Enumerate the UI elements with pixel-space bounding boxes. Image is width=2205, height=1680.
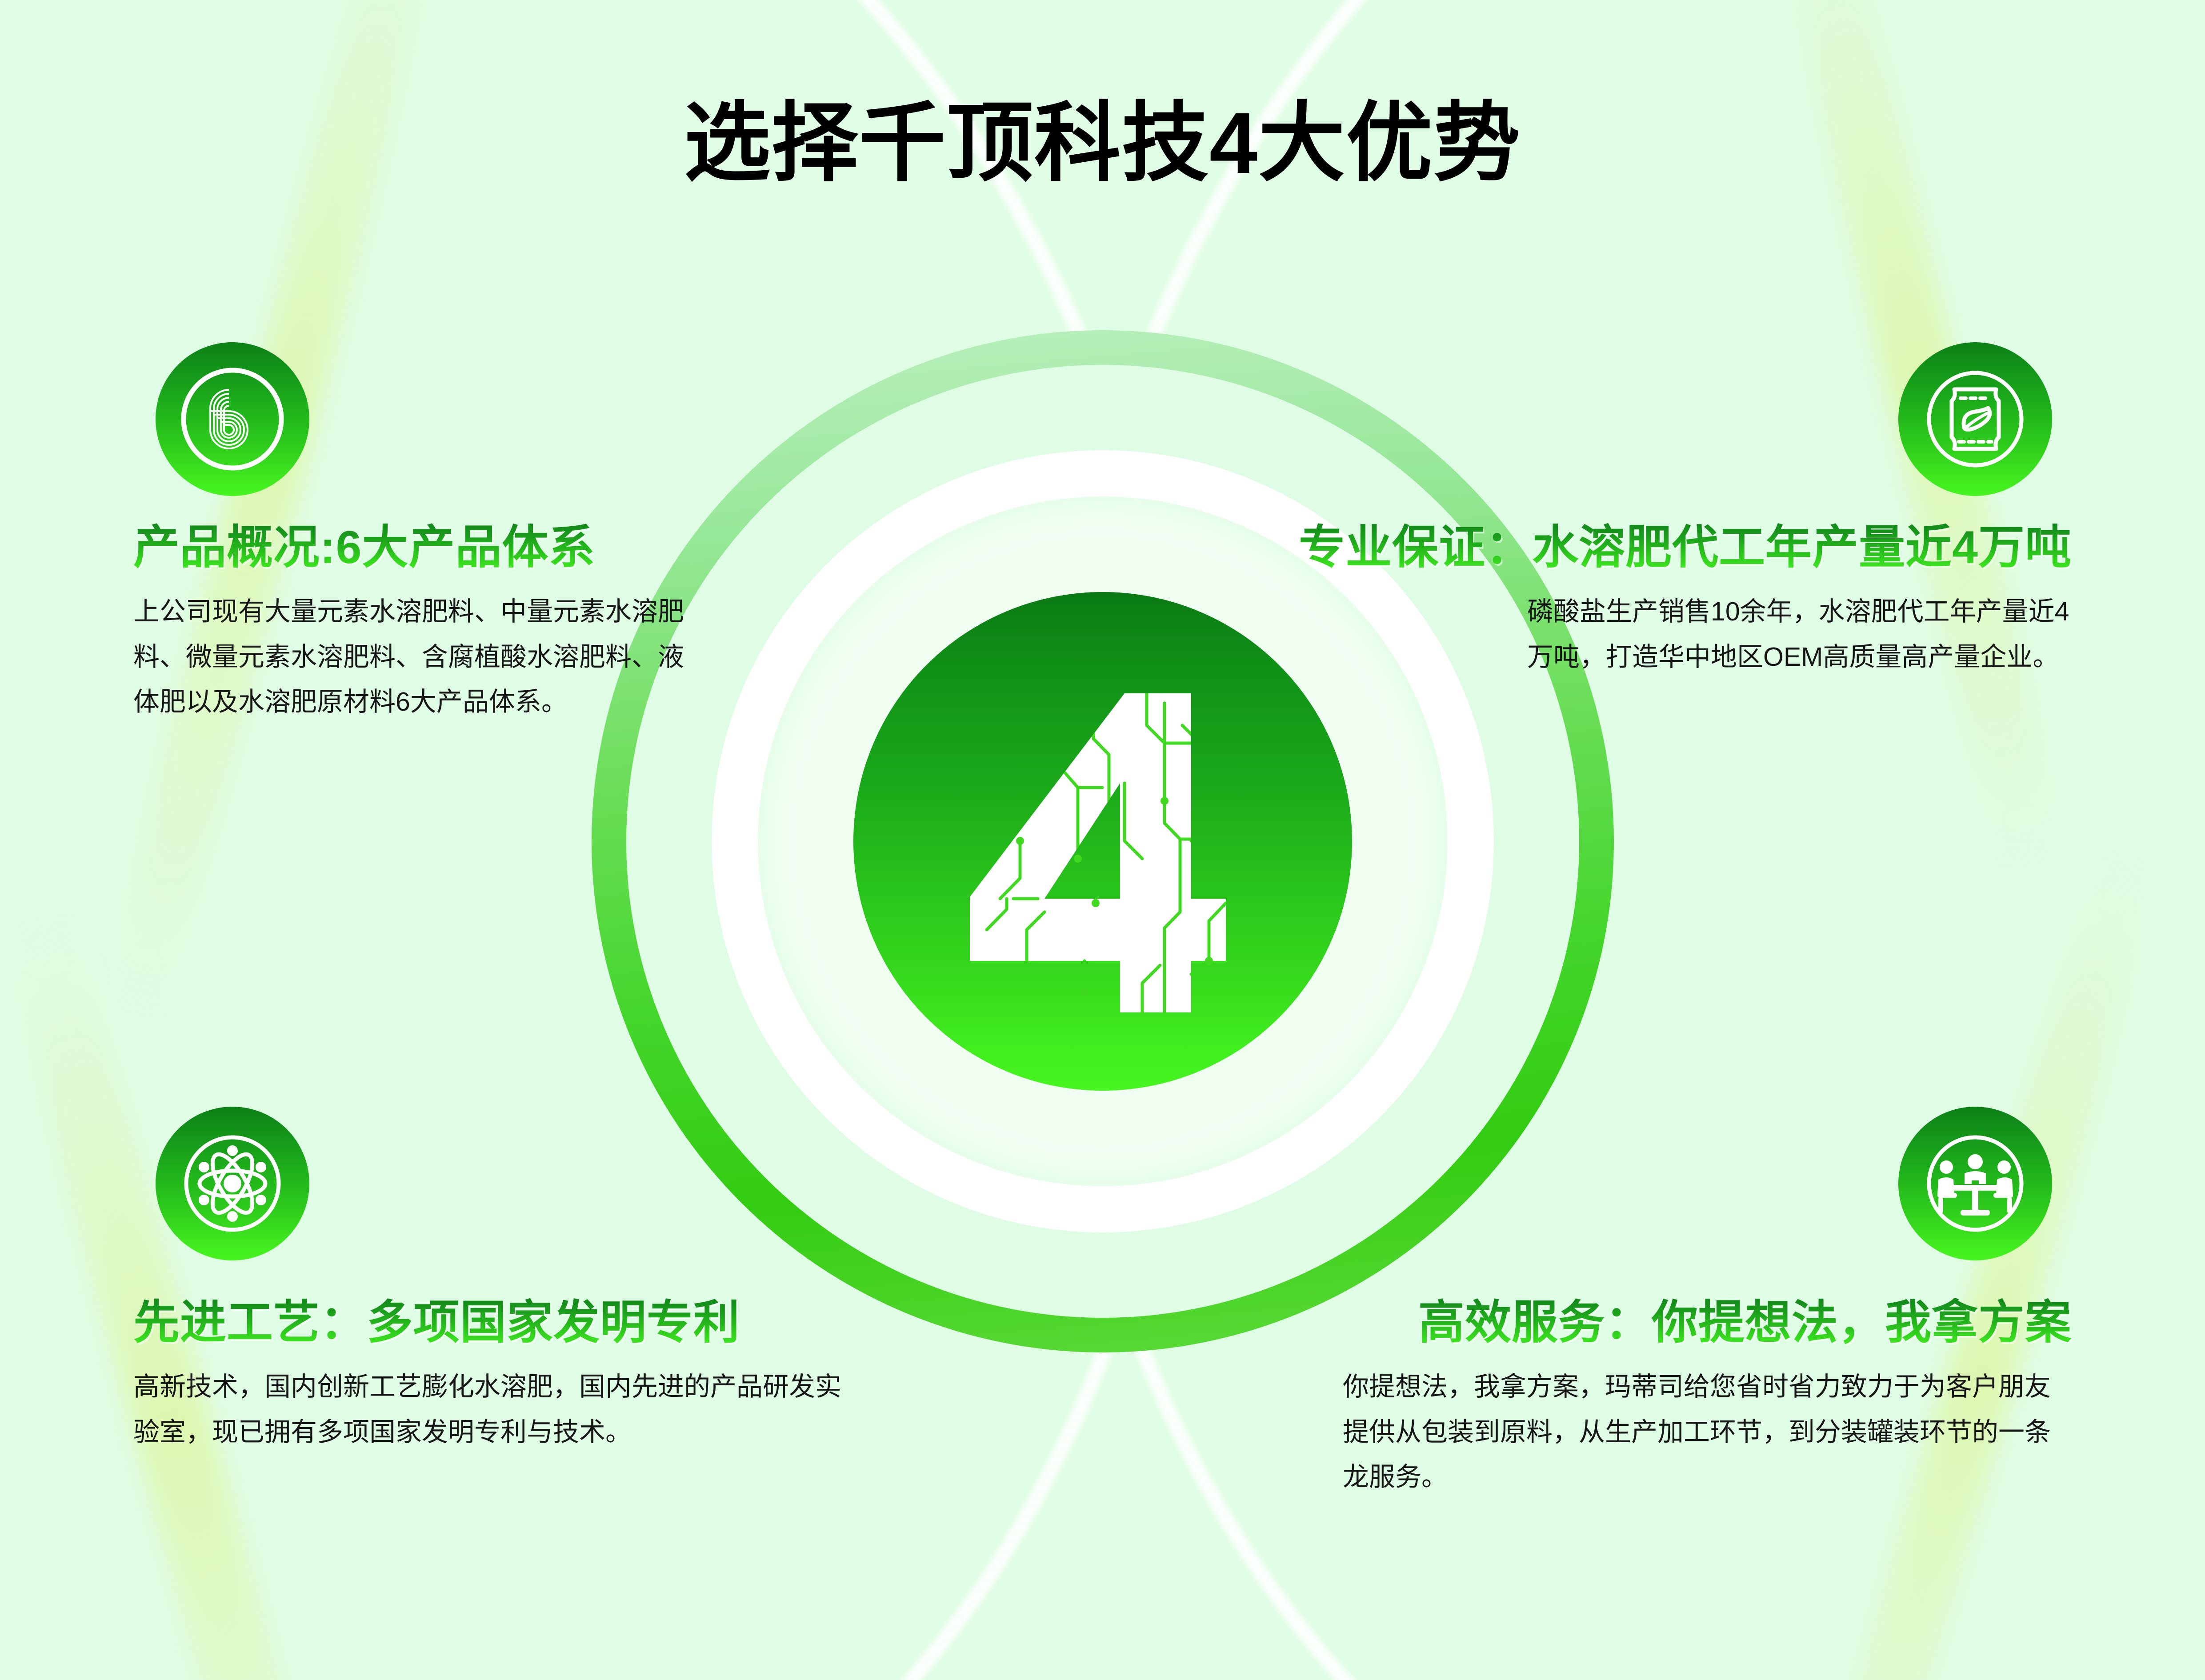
atom-molecule-icon	[156, 1107, 309, 1260]
page-title: 选择千顶科技4大优势	[0, 100, 2205, 187]
feature-body-bottom-left: 高新技术，国内创新工艺膨化水溶肥，国内先进的产品研发实验室，现已拥有多项国家发明…	[133, 1364, 867, 1455]
feature-block-bottom-right: 高效服务：你提想法，我拿方案 你提想法，我拿方案，玛蒂司给您省时省力致力于为客户…	[1289, 1107, 2072, 1500]
feature-block-top-right: 专业保证：水溶肥代工年产量近4万吨 磷酸盐生产销售10余年，水溶肥代工年产量近4…	[1178, 342, 2072, 680]
infographic-poster: 选择千顶科技4大优势 产品概况:6大产品体系 上公司现有大量元素水溶肥料、中量元…	[0, 0, 2205, 1680]
feature-block-bottom-left: 先进工艺：多项国家发明专利 高新技术，国内创新工艺膨化水溶肥，国内先进的产品研发…	[133, 1107, 916, 1455]
meeting-team-table-icon	[1898, 1107, 2052, 1260]
feature-body-bottom-right: 你提想法，我拿方案，玛蒂司给您省时省力致力于为客户朋友提供从包装到原料，从生产加…	[1343, 1364, 2072, 1500]
feature-title-bottom-right: 高效服务：你提想法，我拿方案	[1289, 1298, 2072, 1348]
feature-title-top-right: 专业保证：水溶肥代工年产量近4万吨	[1178, 523, 2072, 572]
number-six-spiral-icon	[156, 342, 309, 496]
feature-body-top-right: 磷酸盐生产销售10余年，水溶肥代工年产量近4万吨，打造华中地区OEM高质量高产量…	[1527, 589, 2072, 680]
feature-block-top-left: 产品概况:6大产品体系 上公司现有大量元素水溶肥料、中量元素水溶肥料、微量元素水…	[133, 342, 720, 725]
feature-body-top-left: 上公司现有大量元素水溶肥料、中量元素水溶肥料、微量元素水溶肥料、含腐植酸水溶肥料…	[133, 589, 689, 724]
feature-title-bottom-left: 先进工艺：多项国家发明专利	[133, 1298, 916, 1348]
fertilizer-bag-leaf-icon	[1898, 342, 2052, 496]
feature-title-top-left: 产品概况:6大产品体系	[133, 523, 720, 572]
